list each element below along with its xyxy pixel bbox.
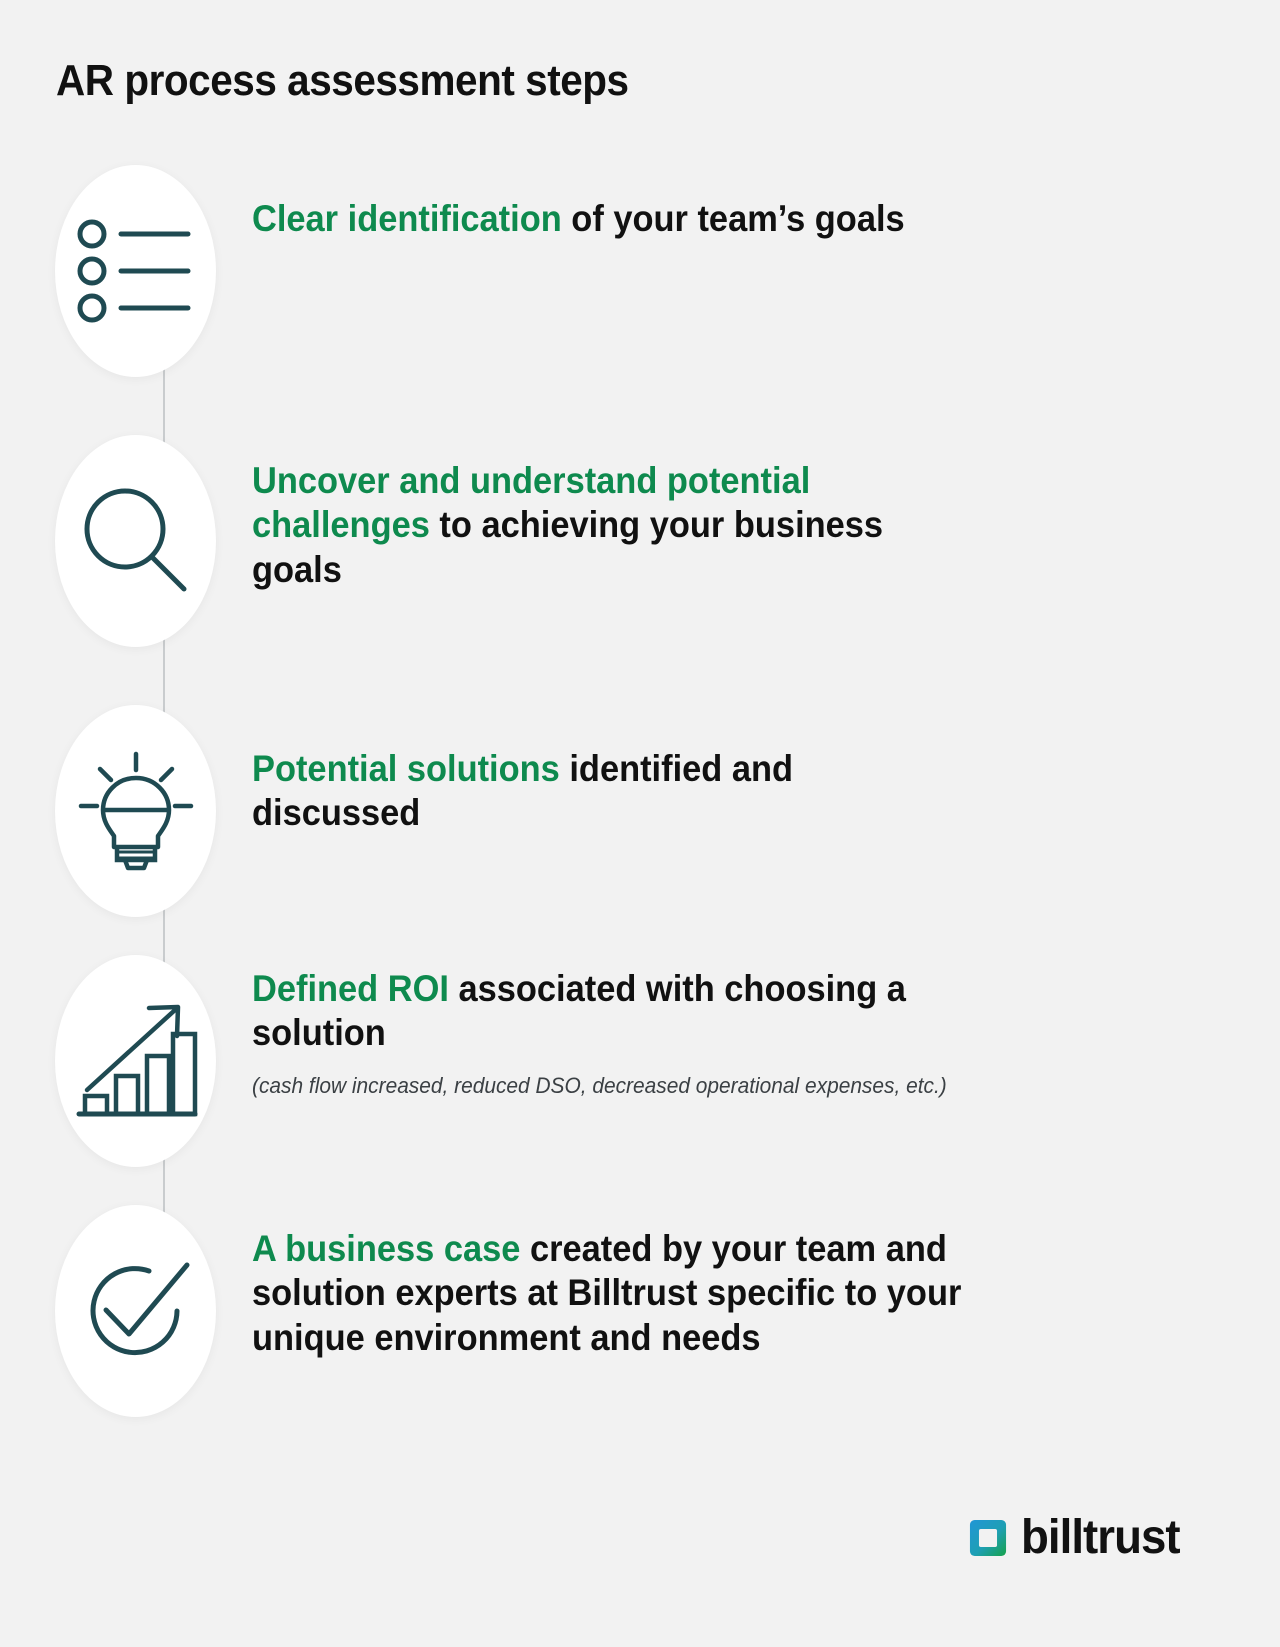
step-text: Clear identification of your team’s goal… [216, 165, 1280, 241]
infographic-root: AR process assessment steps [0, 0, 1280, 1647]
icon-circle [55, 705, 216, 917]
step-accent-text: A business case [252, 1228, 520, 1269]
list-item: Potential solutions identified and discu… [0, 705, 1280, 917]
step-icon-container [0, 955, 216, 1167]
step-heading: Clear identification of your team’s goal… [252, 197, 968, 241]
icon-circle [55, 165, 216, 377]
step-accent-text: Potential solutions [252, 748, 560, 789]
step-text: Defined ROI associated with choosing a s… [216, 955, 1280, 1102]
list-item: Clear identification of your team’s goal… [0, 165, 1280, 377]
step-text: Potential solutions identified and discu… [216, 705, 1280, 836]
list-item: A business case created by your team and… [0, 1205, 1280, 1417]
step-heading: Potential solutions identified and discu… [252, 747, 968, 836]
step-icon-container [0, 165, 216, 377]
step-accent-text: Clear identification [252, 198, 562, 239]
step-rest-text: of your team’s goals [562, 198, 905, 239]
growth-chart-icon [71, 998, 201, 1124]
step-icon-container [0, 705, 216, 917]
icon-circle [55, 435, 216, 647]
billtrust-wordmark: billtrust [1021, 1510, 1180, 1565]
lightbulb-icon [73, 748, 199, 874]
check-circle-icon [73, 1251, 199, 1371]
steps-list: Clear identification of your team’s goal… [0, 165, 1280, 1417]
list-item: Uncover and understand potential challen… [0, 435, 1280, 647]
step-heading: A business case created by your team and… [252, 1227, 968, 1360]
magnifying-glass-icon [76, 481, 196, 601]
step-accent-text: Defined ROI [252, 968, 449, 1009]
step-heading: Uncover and understand potential challen… [252, 459, 968, 592]
icon-circle [55, 955, 216, 1167]
list-item: Defined ROI associated with choosing a s… [0, 955, 1280, 1167]
step-icon-container [0, 435, 216, 647]
billtrust-logo-mark-icon [969, 1519, 1007, 1557]
step-heading: Defined ROI associated with choosing a s… [252, 967, 968, 1056]
checklist-icon [76, 216, 196, 326]
step-text: Uncover and understand potential challen… [216, 435, 1280, 592]
page-title: AR process assessment steps [56, 56, 629, 106]
step-icon-container [0, 1205, 216, 1417]
billtrust-logo: billtrust [969, 1510, 1188, 1565]
icon-circle [55, 1205, 216, 1417]
step-text: A business case created by your team and… [216, 1205, 1280, 1360]
step-note: (cash flow increased, reduced DSO, decre… [252, 1070, 1229, 1102]
